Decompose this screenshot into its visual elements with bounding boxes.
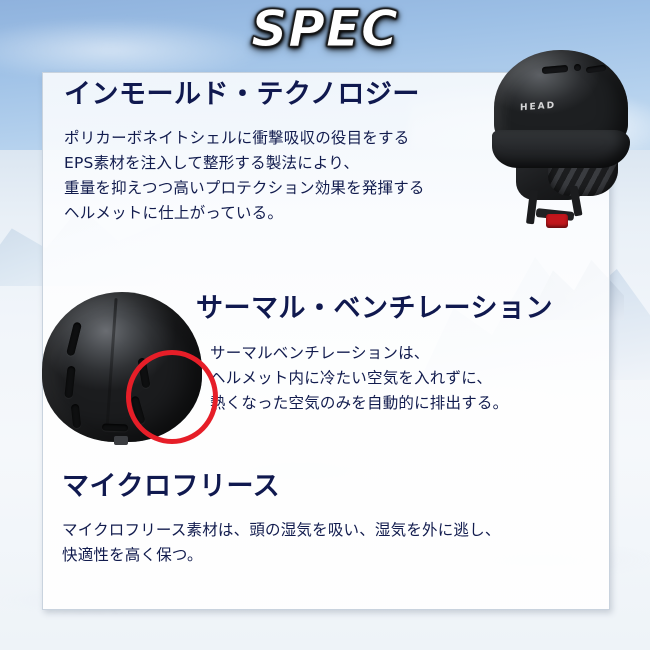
helmet-buckle: [546, 214, 568, 228]
section-in-mold-technology: インモールド・テクノロジー ポリカーボネイトシェルに衝撃吸収の役目をする EPS…: [64, 80, 425, 227]
section-thermal-ventilation: サーマル・ベンチレーション サーマルベンチレーションは、 ヘルメット内に冷たい空…: [196, 294, 553, 416]
annotation-circle-icon: [126, 350, 218, 444]
section-heading-thermal-ventilation: サーマル・ベンチレーション: [196, 294, 553, 323]
helmet-brim: [492, 130, 630, 168]
helmet-vent-icon: [102, 424, 128, 432]
spec-infographic: SPEC インモールド・テクノロジー ポリカーボネイトシェルに衝撃吸収の役目をす…: [0, 0, 650, 650]
section-body-micro-fleece: マイクロフリース素材は、頭の湿気を吸い、湿気を外に逃し、 快適性を高く保つ。: [62, 518, 501, 568]
helmet-adjuster-tab: [114, 436, 128, 445]
section-micro-fleece: マイクロフリース マイクロフリース素材は、頭の湿気を吸い、湿気を外に逃し、 快適…: [62, 472, 501, 568]
section-heading-text: マイクロフリース: [62, 471, 280, 502]
helmet-vent-icon: [574, 64, 581, 71]
section-body-in-mold-technology: ポリカーボネイトシェルに衝撃吸収の役目をする EPS素材を注入して整形する製法に…: [64, 126, 425, 226]
section-heading-in-mold-technology: インモールド・テクノロジー: [64, 80, 420, 109]
helmet-rear-view-image: [38, 288, 210, 456]
section-heading-text: サーマル・ベンチレーション: [196, 293, 553, 324]
section-heading-text: インモールド・テクノロジー: [64, 79, 420, 110]
section-heading-micro-fleece: マイクロフリース: [62, 472, 280, 501]
helmet-front-view-image: HEAD: [486, 44, 638, 230]
section-body-thermal-ventilation: サーマルベンチレーションは、 ヘルメット内に冷たい空気を入れずに、 熱くなった空…: [210, 341, 553, 416]
